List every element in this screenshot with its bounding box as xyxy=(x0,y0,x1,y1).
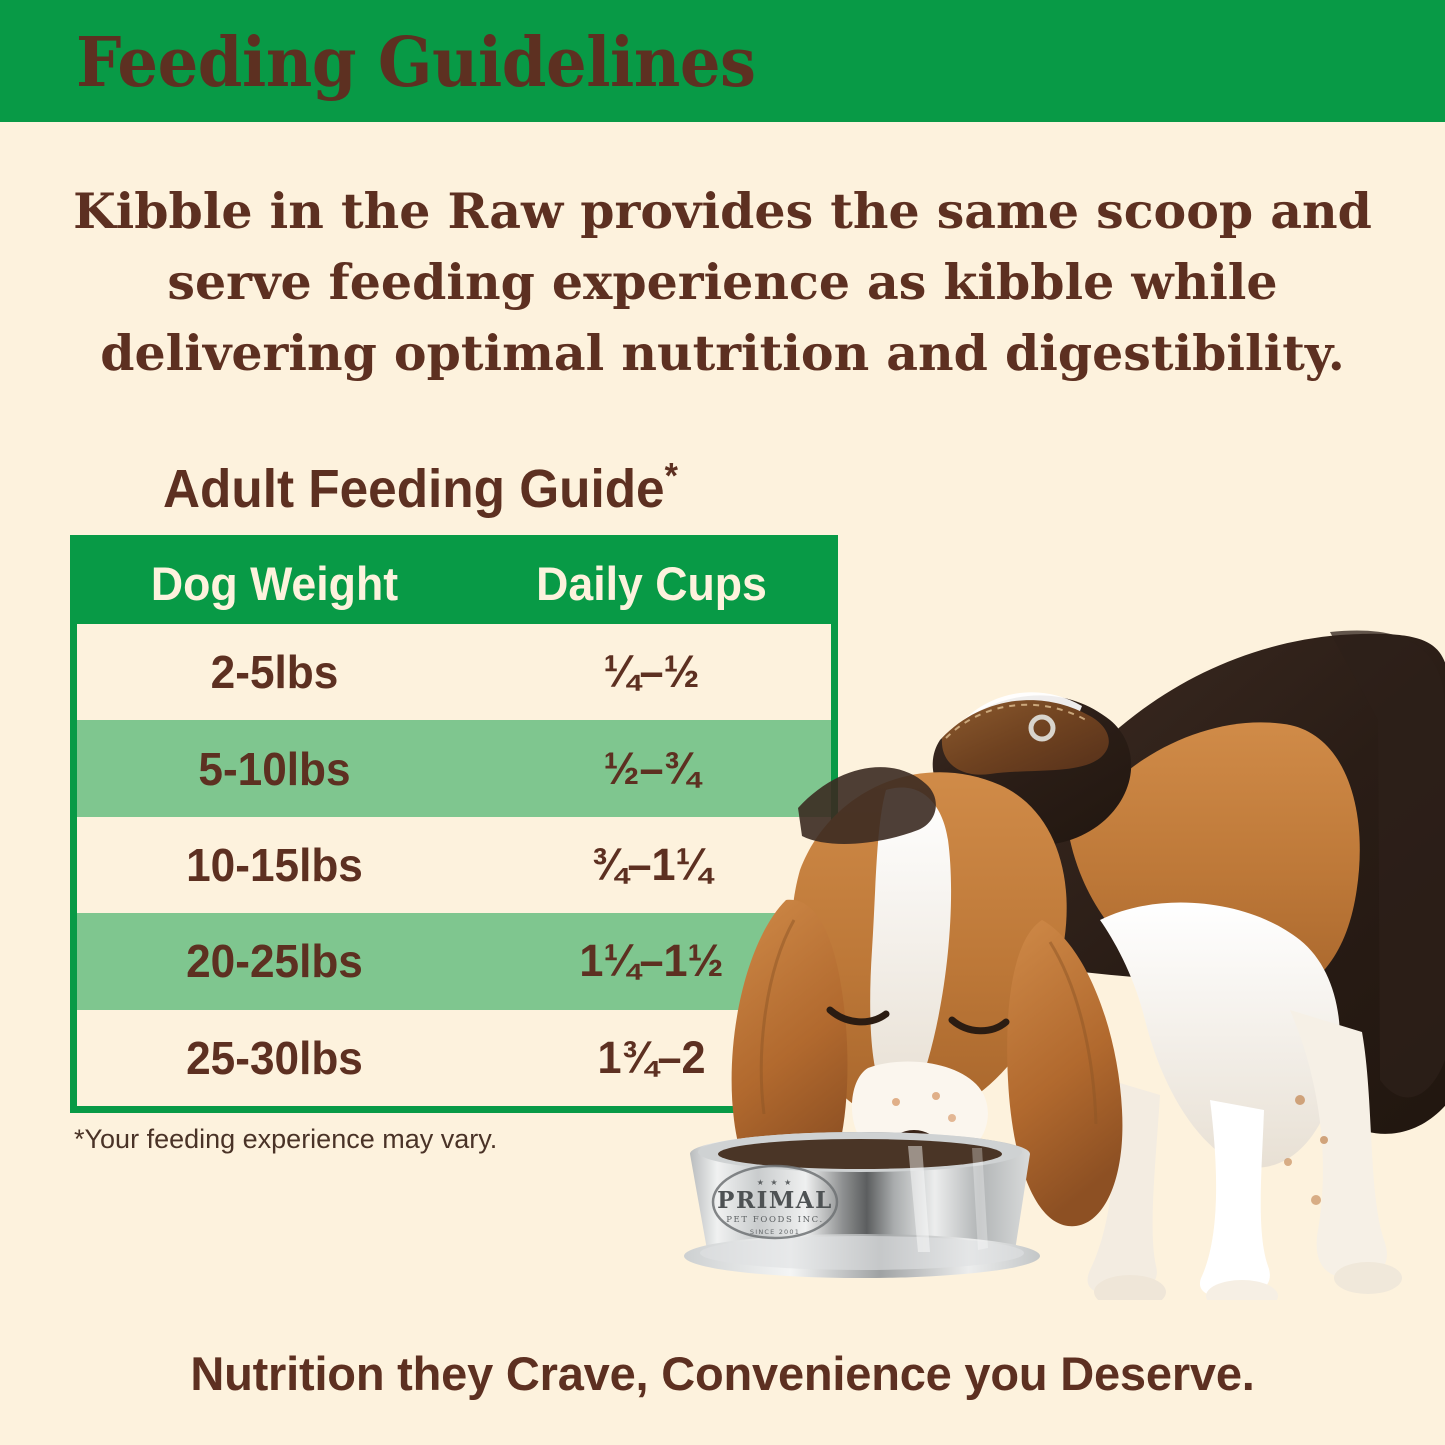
bowl-interior xyxy=(698,1132,1022,1172)
dog-nose xyxy=(892,1130,936,1158)
dog-eye-right xyxy=(952,1020,1006,1031)
guide-title-asterisk: * xyxy=(665,455,678,496)
table-row: 25-30lbs 1¾–2 xyxy=(77,1010,831,1106)
bowl-base-rim xyxy=(684,1234,1040,1278)
cell-dog-weight: 25-30lbs xyxy=(85,1031,464,1085)
table-row: 20-25lbs 1¼–1½ xyxy=(77,913,831,1009)
intro-paragraph: Kibble in the Raw provides the same scoo… xyxy=(50,176,1395,389)
adult-feeding-guide-title: Adult Feeding Guide* xyxy=(163,458,678,520)
cell-dog-weight: 5-10lbs xyxy=(85,742,464,796)
column-header-dog-weight: Dog Weight xyxy=(87,556,462,611)
header-banner: Feeding Guidelines xyxy=(0,0,1445,122)
collar-ring xyxy=(1031,717,1053,739)
bowl-brand-text: PRIMAL xyxy=(717,1187,833,1214)
dog-neck xyxy=(933,695,1131,845)
bowl-since-text: SINCE 2001 xyxy=(750,1228,800,1236)
bowl-body xyxy=(690,1132,1030,1270)
cell-daily-cups: 1¼–1½ xyxy=(479,935,824,987)
table-row: 5-10lbs ½–¾ xyxy=(77,720,831,816)
feeding-guidelines-page: Feeding Guidelines Kibble in the Raw pro… xyxy=(0,0,1445,1445)
dog-muzzle xyxy=(852,1061,988,1165)
dog-front-leg xyxy=(1088,1080,1160,1294)
cell-daily-cups: ½–¾ xyxy=(479,743,824,795)
cell-daily-cups: ¾–1¼ xyxy=(479,839,824,891)
dog-neck-white xyxy=(958,692,1082,756)
dog-body-saddle xyxy=(990,634,1445,1134)
bottom-tagline: Nutrition they Crave, Convenience you De… xyxy=(0,1346,1445,1401)
dog-right-ear xyxy=(1007,920,1122,1226)
cell-daily-cups: 1¾–2 xyxy=(479,1032,824,1084)
table-footnote: *Your feeding experience may vary. xyxy=(74,1124,497,1155)
column-header-daily-cups: Daily Cups xyxy=(481,556,822,611)
cell-dog-weight: 20-25lbs xyxy=(85,934,464,988)
dog-eye-left xyxy=(830,1010,886,1022)
feeding-guide-table: Dog Weight Daily Cups 2-5lbs ¼–½ 5-10lbs… xyxy=(70,535,838,1113)
dog-rear-leg xyxy=(1200,1100,1270,1298)
dog-chest-white xyxy=(1100,903,1340,1168)
bowl-food xyxy=(718,1139,1002,1169)
page-title: Feeding Guidelines xyxy=(76,23,756,103)
dog-rear-leg-2 xyxy=(1290,1010,1387,1278)
guide-title-text: Adult Feeding Guide xyxy=(163,459,665,519)
bowl-subtitle-text: PET FOODS INC. xyxy=(726,1215,824,1225)
table-row: 10-15lbs ¾–1¼ xyxy=(77,817,831,913)
table-body: 2-5lbs ¼–½ 5-10lbs ½–¾ 10-15lbs ¾–1¼ 20-… xyxy=(77,624,831,1106)
dog-blaze xyxy=(870,787,951,1099)
primal-dog-bowl: ★ ★ ★ PRIMAL PET FOODS INC. SINCE 2001 xyxy=(672,1128,1072,1288)
table-row: 2-5lbs ¼–½ xyxy=(77,624,831,720)
table-header-row: Dog Weight Daily Cups xyxy=(77,542,831,624)
cell-dog-weight: 10-15lbs xyxy=(85,838,464,892)
dog-paw xyxy=(1334,1262,1402,1294)
dog-paw xyxy=(1094,1275,1166,1300)
bowl-logo-outline xyxy=(713,1166,837,1238)
dog-collar xyxy=(942,700,1109,775)
bowl-logo-stars: ★ ★ ★ xyxy=(757,1178,794,1187)
cell-dog-weight: 2-5lbs xyxy=(85,645,464,699)
dog-haunch-tan xyxy=(1070,722,1360,1002)
cell-daily-cups: ¼–½ xyxy=(479,646,824,698)
dog-paw xyxy=(1206,1280,1278,1300)
